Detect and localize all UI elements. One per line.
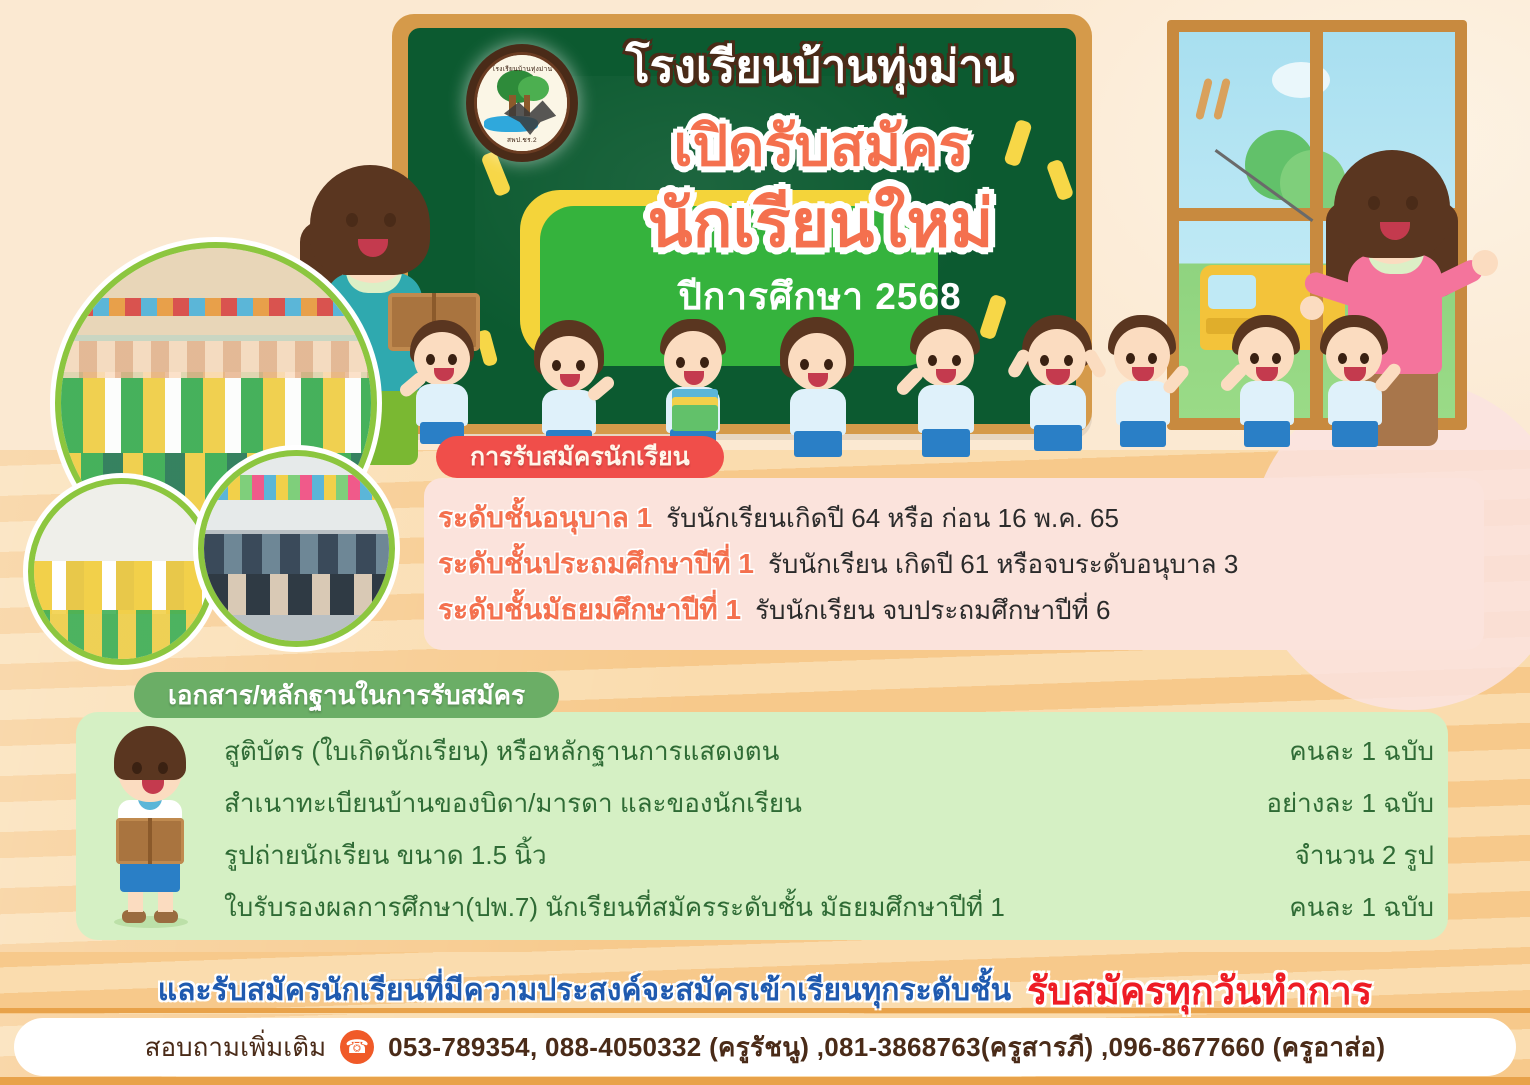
admission-level: ระดับชั้นประถมศึกษาปีที่ 1 <box>438 542 754 586</box>
student-character <box>400 320 486 450</box>
poster-root: โรงเรียนบ้านทุ่งม่าน สพป.ชร.2 โรงเรียนบ้… <box>0 0 1530 1085</box>
photo-computer-lab <box>198 450 395 647</box>
student-character <box>898 315 994 471</box>
document-text: รูปถ่ายนักเรียน ขนาด 1.5 นิ้ว <box>224 835 547 876</box>
admission-row: ระดับชั้นประถมศึกษาปีที่ 1 รับนักเรียน เ… <box>438 540 1468 588</box>
document-row: รูปถ่ายนักเรียน ขนาด 1.5 นิ้ว จำนวน 2 รู… <box>224 830 1434 880</box>
admission-detail: รับนักเรียน จบประถมศึกษาปีที่ 6 <box>755 590 1110 631</box>
books-stack-icon <box>672 405 718 431</box>
admission-row: ระดับชั้นอนุบาล 1 รับนักเรียนเกิดปี 64 ห… <box>438 494 1468 542</box>
documents-panel: สูติบัตร (ใบเกิดนักเรียน) หรือหลักฐานการ… <box>76 712 1448 940</box>
banner-blue-text: และรับสมัครนักเรียนที่มีความประสงค์จะสมั… <box>158 967 1011 1014</box>
phone-icon: ☎ <box>340 1030 374 1064</box>
document-row: ใบรับรองผลการศึกษา(ปพ.7) นักเรียนที่สมัค… <box>224 882 1434 932</box>
photo-students-worksheets <box>28 478 215 665</box>
admission-section-badge: การรับสมัครนักเรียน <box>436 436 724 478</box>
academic-year-heading: ปีการศึกษา 2568 <box>560 278 1080 315</box>
student-character <box>770 317 866 467</box>
admission-level: ระดับชั้นอนุบาล 1 <box>438 496 652 540</box>
contact-numbers[interactable]: 053-789354, 088-4050332 (ครูรัชนู) ,081-… <box>388 1027 1385 1068</box>
student-character <box>1010 315 1106 475</box>
open-admission-heading: เปิดรับสมัคร <box>556 118 1086 174</box>
bus-window <box>1208 275 1256 309</box>
admission-row: ระดับชั้นมัธยมศึกษาปีที่ 1 รับนักเรียน จ… <box>438 586 1468 634</box>
document-text: สำเนาทะเบียนบ้านของบิดา/มารดา และของนักเ… <box>224 783 802 824</box>
logo-top-text: โรงเรียนบ้านทุ่งม่าน <box>477 64 567 74</box>
boy-reading-mascot <box>96 726 204 924</box>
student-character <box>1310 315 1402 485</box>
document-row: สูติบัตร (ใบเกิดนักเรียน) หรือหลักฐานการ… <box>224 726 1434 776</box>
admission-detail: รับนักเรียนเกิดปี 64 หรือ ก่อน 16 พ.ค. 6… <box>666 498 1119 539</box>
document-row: สำเนาทะเบียนบ้านของบิดา/มารดา และของนักเ… <box>224 778 1434 828</box>
admission-detail: รับนักเรียน เกิดปี 61 หรือจบระดับอนุบาล … <box>768 544 1238 585</box>
new-students-heading: นักเรียนใหม่ <box>548 190 1093 256</box>
contact-label: สอบถามเพิ่มเติม <box>145 1027 327 1068</box>
bottom-banner-text: และรับสมัครนักเรียนที่มีความประสงค์จะสมั… <box>0 960 1530 1021</box>
logo-bottom-text: สพป.ชร.2 <box>477 135 567 145</box>
document-amount: คนละ 1 ฉบับ <box>1289 731 1434 772</box>
banner-red-text: รับสมัครทุกวันทำการ <box>1027 960 1372 1021</box>
admission-panel: ระดับชั้นอนุบาล 1 รับนักเรียนเกิดปี 64 ห… <box>424 478 1484 650</box>
document-amount: อย่างละ 1 ฉบับ <box>1266 783 1434 824</box>
document-text: สูติบัตร (ใบเกิดนักเรียน) หรือหลักฐานการ… <box>224 731 779 772</box>
document-text: ใบรับรองผลการศึกษา(ปพ.7) นักเรียนที่สมัค… <box>224 887 1005 928</box>
bottom-stripe <box>0 1077 1530 1085</box>
document-amount: จำนวน 2 รูป <box>1295 835 1434 876</box>
student-character <box>1222 315 1314 483</box>
document-amount: คนละ 1 ฉบับ <box>1289 887 1434 928</box>
documents-section-badge: เอกสาร/หลักฐานในการรับสมัคร <box>134 672 559 718</box>
student-character <box>1098 315 1190 479</box>
school-name-heading: โรงเรียนบ้านทุ่งม่าน <box>560 44 1080 89</box>
admission-level: ระดับชั้นมัธยมศึกษาปีที่ 1 <box>438 588 741 632</box>
contact-bar: สอบถามเพิ่มเติม ☎ 053-789354, 088-405033… <box>14 1018 1516 1076</box>
